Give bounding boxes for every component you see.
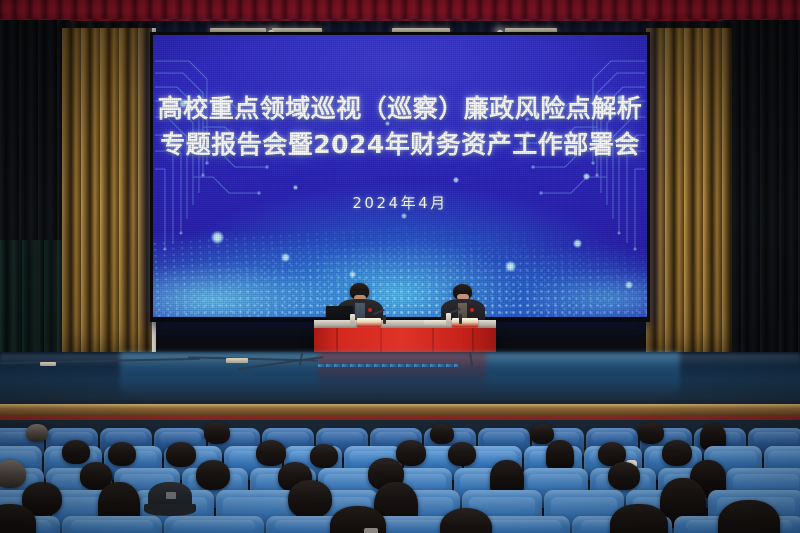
light-orb xyxy=(617,95,623,101)
light-orb xyxy=(349,271,356,278)
audience-head xyxy=(662,440,692,466)
audience-head xyxy=(608,462,640,490)
light-orb xyxy=(525,131,530,136)
power-strip xyxy=(318,364,458,367)
cable-ramp xyxy=(40,362,56,366)
light-orb xyxy=(625,281,633,289)
light-orb xyxy=(293,185,298,190)
audience-head xyxy=(396,440,426,466)
led-screen-frame: 高校重点领域巡视（巡察）廉政风险点解析 专题报告会暨2024年财务资产工作部署会… xyxy=(150,32,650,322)
water-cup-icon xyxy=(446,313,451,324)
light-orb xyxy=(281,253,290,262)
audience-head xyxy=(166,442,196,467)
light-orb xyxy=(179,99,188,108)
masking-curtain-right xyxy=(722,20,800,380)
audience-head xyxy=(26,424,48,442)
light-orb xyxy=(247,139,253,145)
led-screen: 高校重点领域巡视（巡察）廉政风险点解析 专题报告会暨2024年财务资产工作部署会… xyxy=(153,35,647,317)
water-cup-icon xyxy=(350,314,355,324)
audience-head xyxy=(530,424,554,444)
audience-head xyxy=(546,440,574,470)
microphone-icon xyxy=(383,315,386,324)
light-orb xyxy=(211,231,224,244)
audience-head xyxy=(108,442,136,466)
light-orb xyxy=(573,239,582,248)
documents-icon xyxy=(424,320,446,325)
light-orb xyxy=(385,121,390,126)
microphone-icon xyxy=(459,314,462,324)
light-orb xyxy=(401,213,407,219)
audience-head xyxy=(256,440,286,466)
hair-clip xyxy=(364,528,378,533)
gold-curtain-left xyxy=(62,28,152,368)
name-card-icon xyxy=(452,318,478,327)
audience-head xyxy=(0,460,26,488)
audience-head xyxy=(310,444,338,468)
audience-head xyxy=(448,442,476,466)
audience-head xyxy=(196,460,230,490)
cap-logo xyxy=(166,492,176,499)
lapel-badge xyxy=(470,308,474,312)
seat[interactable] xyxy=(62,516,162,533)
audience-head xyxy=(204,422,230,444)
cap-brim xyxy=(144,504,196,516)
audience-head xyxy=(430,424,454,444)
audience-head xyxy=(62,440,90,464)
seat[interactable] xyxy=(164,516,264,533)
table-reflection-on-floor xyxy=(318,352,486,394)
audience-head xyxy=(638,422,664,444)
audience-head xyxy=(610,504,668,533)
gold-curtain-right xyxy=(646,28,732,368)
conference-hall-photo: 高校重点领域巡视（巡察）廉政风险点解析 专题报告会暨2024年财务资产工作部署会… xyxy=(0,0,800,533)
light-orb xyxy=(583,173,590,180)
cable-ramp xyxy=(226,358,248,363)
audience-seating-area xyxy=(0,420,800,533)
light-orb xyxy=(453,177,459,183)
light-orb xyxy=(505,261,516,272)
name-card-icon xyxy=(357,318,381,327)
audience-head xyxy=(288,480,332,518)
lapel-badge xyxy=(368,308,372,312)
audience-head xyxy=(718,500,780,533)
